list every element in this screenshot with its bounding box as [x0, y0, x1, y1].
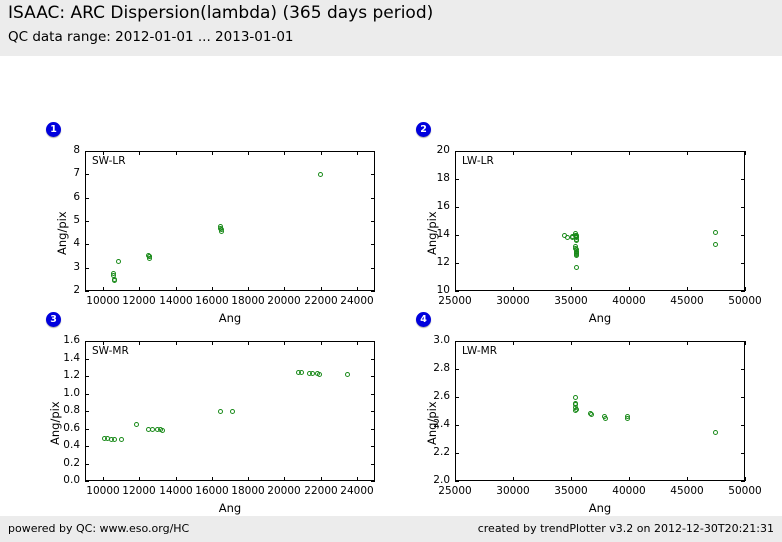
x-tick-mark — [357, 287, 358, 291]
y-tick-label: 1.2 — [39, 369, 80, 381]
panel-badge-1: 1 — [46, 122, 61, 137]
y-tick-mark — [371, 244, 375, 245]
y-tick-label: 16 — [409, 200, 450, 212]
x-tick-mark — [284, 287, 285, 291]
x-tick-label: 45000 — [662, 485, 712, 497]
x-tick-mark — [212, 151, 213, 155]
x-tick-mark — [629, 287, 630, 291]
y-tick-mark — [741, 397, 745, 398]
x-tick-mark — [139, 287, 140, 291]
x-tick-mark — [176, 341, 177, 345]
x-tick-mark — [284, 477, 285, 481]
page-subtitle: QC data range: 2012-01-01 ... 2013-01-01 — [8, 29, 294, 45]
x-tick-mark — [139, 151, 140, 155]
x-tick-mark — [455, 477, 456, 481]
y-tick-mark — [455, 263, 459, 264]
y-tick-mark — [371, 411, 375, 412]
x-tick-label: 30000 — [488, 295, 538, 307]
x-tick-mark — [571, 341, 572, 345]
y-tick-mark — [371, 221, 375, 222]
y-tick-mark — [455, 291, 459, 292]
plot-label-2: LW-LR — [462, 155, 494, 167]
y-tick-label: 0.0 — [39, 474, 80, 486]
x-tick-mark — [629, 477, 630, 481]
y-tick-mark — [455, 179, 459, 180]
x-tick-mark — [284, 341, 285, 345]
data-point-marker — [713, 430, 718, 435]
x-tick-mark — [513, 341, 514, 345]
y-tick-label: 0.6 — [39, 422, 80, 434]
x-tick-mark — [248, 287, 249, 291]
y-tick-mark — [371, 341, 375, 342]
y-tick-label: 0.8 — [39, 404, 80, 416]
x-tick-mark — [745, 341, 746, 345]
x-tick-mark — [103, 477, 104, 481]
y-tick-mark — [85, 359, 89, 360]
data-point-marker — [603, 416, 608, 421]
x-tick-mark — [745, 151, 746, 155]
x-tick-mark — [176, 477, 177, 481]
x-tick-mark — [513, 287, 514, 291]
data-point-marker — [318, 172, 323, 177]
x-tick-mark — [513, 477, 514, 481]
x-tick-mark — [357, 151, 358, 155]
y-tick-mark — [741, 207, 745, 208]
data-point-marker — [160, 428, 165, 433]
x-tick-mark — [248, 477, 249, 481]
y-tick-mark — [741, 481, 745, 482]
y-tick-mark — [455, 425, 459, 426]
x-tick-label: 50000 — [720, 485, 770, 497]
plot-frame-2 — [455, 151, 745, 291]
panel-badge-3: 3 — [46, 312, 61, 327]
y-tick-mark — [741, 453, 745, 454]
x-tick-mark — [571, 287, 572, 291]
y-tick-label: 2.4 — [409, 418, 450, 430]
plot-frame-1 — [85, 151, 375, 291]
y-tick-mark — [371, 174, 375, 175]
x-tick-mark — [745, 477, 746, 481]
x-tick-mark — [357, 477, 358, 481]
plot-frame-4 — [455, 341, 745, 481]
y-tick-mark — [371, 394, 375, 395]
y-tick-label: 3.0 — [409, 334, 450, 346]
x-tick-mark — [139, 341, 140, 345]
x-tick-mark — [321, 151, 322, 155]
x-tick-mark — [687, 287, 688, 291]
x-tick-mark — [687, 151, 688, 155]
y-tick-label: 20 — [409, 144, 450, 156]
y-tick-label: 2.6 — [409, 390, 450, 402]
x-tick-mark — [513, 151, 514, 155]
plot-label-3: SW-MR — [92, 345, 129, 357]
x-axis-title-3: Ang — [85, 501, 375, 515]
x-tick-label: 30000 — [488, 485, 538, 497]
x-tick-mark — [139, 477, 140, 481]
data-point-marker — [150, 427, 155, 432]
y-tick-mark — [455, 207, 459, 208]
x-tick-mark — [629, 341, 630, 345]
y-tick-label: 1.6 — [39, 334, 80, 346]
y-tick-mark — [455, 481, 459, 482]
y-tick-mark — [455, 453, 459, 454]
y-tick-mark — [741, 179, 745, 180]
y-tick-mark — [85, 411, 89, 412]
x-tick-mark — [212, 341, 213, 345]
y-tick-mark — [741, 235, 745, 236]
y-tick-mark — [85, 198, 89, 199]
y-tick-mark — [85, 151, 89, 152]
y-tick-mark — [85, 429, 89, 430]
y-tick-mark — [371, 376, 375, 377]
x-tick-mark — [455, 151, 456, 155]
x-tick-mark — [212, 477, 213, 481]
x-tick-mark — [357, 341, 358, 345]
y-tick-label: 7 — [39, 167, 80, 179]
y-tick-label: 2 — [39, 284, 80, 296]
x-tick-label: 35000 — [546, 295, 596, 307]
y-tick-label: 18 — [409, 172, 450, 184]
y-tick-mark — [85, 291, 89, 292]
x-tick-label: 24000 — [332, 295, 382, 307]
x-tick-mark — [687, 341, 688, 345]
y-tick-mark — [741, 425, 745, 426]
y-tick-label: 0.4 — [39, 439, 80, 451]
x-tick-label: 35000 — [546, 485, 596, 497]
x-tick-label: 45000 — [662, 295, 712, 307]
x-tick-mark — [745, 287, 746, 291]
y-tick-label: 6 — [39, 191, 80, 203]
x-tick-label: 25000 — [430, 485, 480, 497]
y-tick-mark — [371, 481, 375, 482]
data-point-marker — [218, 409, 223, 414]
y-tick-label: 2.8 — [409, 362, 450, 374]
x-tick-label: 25000 — [430, 295, 480, 307]
x-tick-label: 40000 — [604, 295, 654, 307]
x-tick-mark — [455, 341, 456, 345]
x-tick-mark — [176, 151, 177, 155]
x-tick-mark — [455, 287, 456, 291]
x-tick-mark — [103, 151, 104, 155]
y-tick-mark — [371, 151, 375, 152]
x-tick-mark — [687, 477, 688, 481]
y-tick-mark — [371, 429, 375, 430]
y-tick-mark — [371, 446, 375, 447]
x-tick-mark — [103, 341, 104, 345]
x-tick-mark — [321, 341, 322, 345]
x-axis-title-1: Ang — [85, 311, 375, 325]
data-point-marker — [713, 230, 718, 235]
y-tick-mark — [85, 446, 89, 447]
y-tick-mark — [741, 291, 745, 292]
footer-created-by: created by trendPlotter v3.2 on 2012-12-… — [478, 522, 774, 535]
y-tick-mark — [85, 244, 89, 245]
y-tick-label: 5 — [39, 214, 80, 226]
y-tick-mark — [741, 263, 745, 264]
x-tick-mark — [321, 477, 322, 481]
x-tick-label: 40000 — [604, 485, 654, 497]
y-tick-label: 4 — [39, 237, 80, 249]
y-tick-label: 0.2 — [39, 457, 80, 469]
x-tick-mark — [176, 287, 177, 291]
x-tick-mark — [284, 151, 285, 155]
x-tick-label: 50000 — [720, 295, 770, 307]
y-tick-mark — [85, 221, 89, 222]
y-tick-label: 8 — [39, 144, 80, 156]
x-tick-mark — [571, 477, 572, 481]
y-tick-label: 2.2 — [409, 446, 450, 458]
y-tick-mark — [371, 464, 375, 465]
y-tick-mark — [85, 376, 89, 377]
y-tick-label: 1.0 — [39, 387, 80, 399]
x-axis-title-4: Ang — [455, 501, 745, 515]
plot-label-1: SW-LR — [92, 155, 126, 167]
x-tick-mark — [321, 287, 322, 291]
x-tick-mark — [571, 151, 572, 155]
x-tick-mark — [629, 151, 630, 155]
y-tick-mark — [455, 369, 459, 370]
x-tick-mark — [248, 341, 249, 345]
y-tick-mark — [371, 291, 375, 292]
y-tick-label: 14 — [409, 228, 450, 240]
page-title: ISAAC: ARC Dispersion(lambda) (365 days … — [8, 3, 433, 23]
y-tick-mark — [455, 397, 459, 398]
y-tick-mark — [85, 268, 89, 269]
y-tick-label: 3 — [39, 261, 80, 273]
y-tick-mark — [741, 369, 745, 370]
x-tick-label: 24000 — [332, 485, 382, 497]
y-tick-mark — [85, 341, 89, 342]
data-point-marker — [112, 278, 117, 283]
x-axis-title-2: Ang — [455, 311, 745, 325]
y-tick-mark — [371, 198, 375, 199]
y-tick-mark — [85, 394, 89, 395]
y-tick-mark — [85, 481, 89, 482]
x-tick-mark — [212, 287, 213, 291]
x-tick-mark — [103, 287, 104, 291]
y-tick-mark — [371, 359, 375, 360]
y-tick-label: 12 — [409, 256, 450, 268]
plot-label-4: LW-MR — [462, 345, 497, 357]
x-tick-mark — [248, 151, 249, 155]
y-tick-mark — [455, 235, 459, 236]
data-point-marker — [574, 407, 579, 412]
y-tick-label: 1.4 — [39, 352, 80, 364]
y-tick-mark — [85, 464, 89, 465]
panel-badge-4: 4 — [416, 312, 431, 327]
footer-powered-by: powered by QC: www.eso.org/HC — [8, 522, 189, 535]
y-tick-mark — [85, 174, 89, 175]
panel-badge-2: 2 — [416, 122, 431, 137]
y-tick-mark — [371, 268, 375, 269]
